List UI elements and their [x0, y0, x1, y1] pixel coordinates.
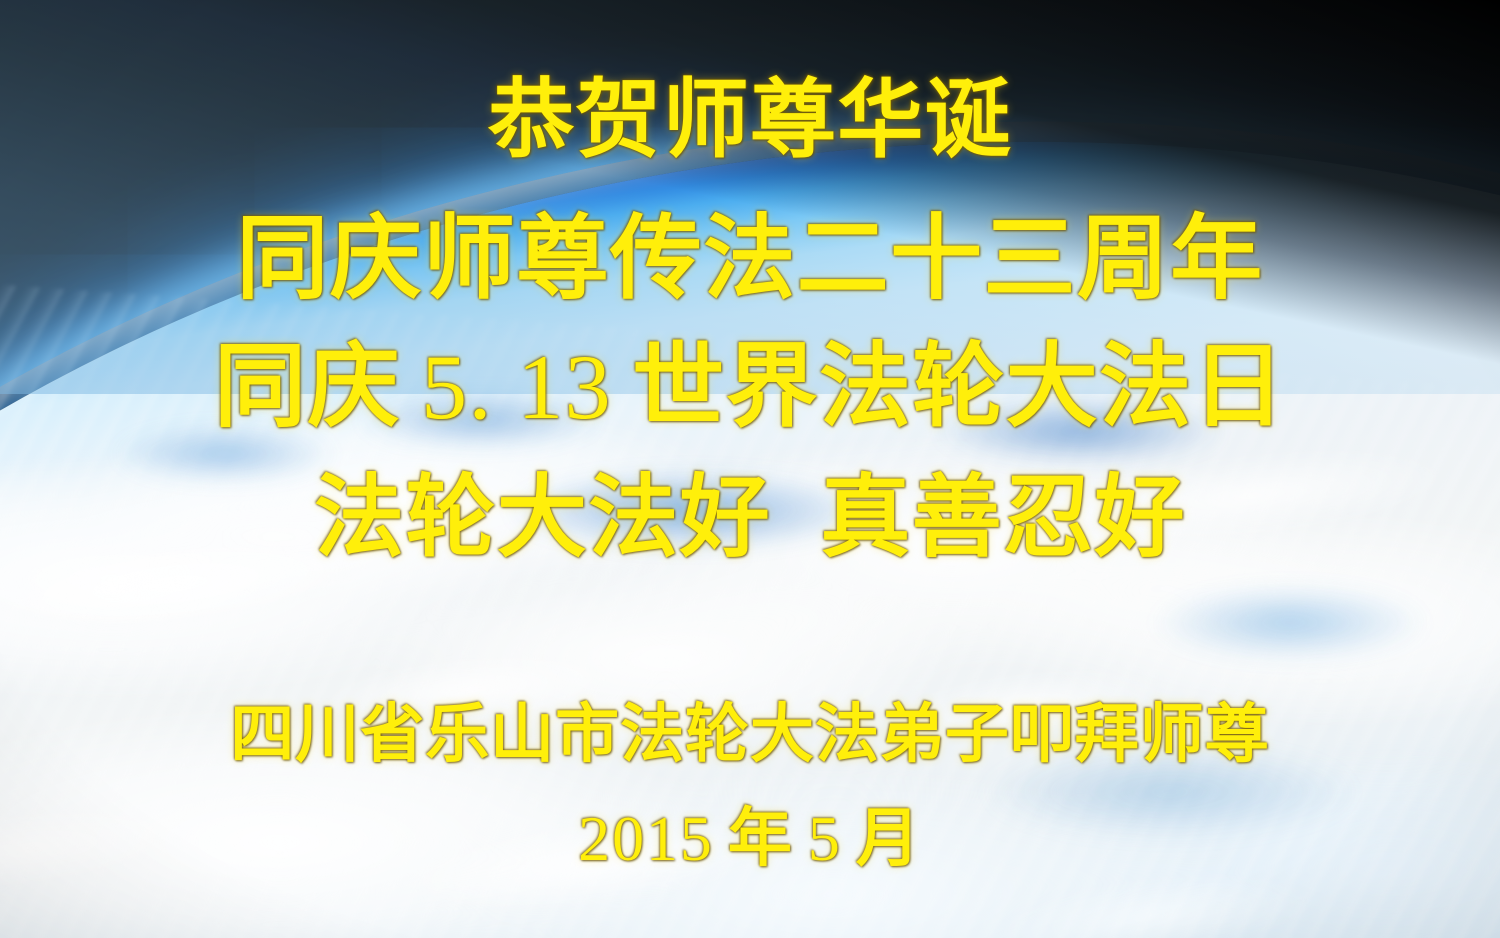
greeting-poster: 恭贺师尊华诞 同庆师尊传法二十三周年 同庆5. 13世界法轮大法日 法轮大法好真…: [0, 0, 1500, 938]
date-year-number: 2015: [578, 803, 714, 874]
headline-falun-dafa-day: 同庆5. 13世界法轮大法日: [0, 341, 1500, 433]
date-year-label: 年: [728, 802, 794, 876]
signature-practitioners: 四川省乐山市法轮大法弟子叩拜师尊: [0, 703, 1500, 767]
slogan-line: 法轮大法好真善忍好: [0, 473, 1500, 563]
date-month-label: 月: [856, 802, 922, 876]
date-line: 2015年5月: [0, 807, 1500, 871]
date-month-number: 5: [808, 803, 842, 874]
line3-date-number: 5. 13: [421, 336, 612, 438]
line3-prefix: 同庆: [214, 333, 401, 440]
headline-anniversary: 同庆师尊传法二十三周年: [0, 213, 1500, 305]
slogan-zhen-shan-ren-hao: 真善忍好: [820, 465, 1185, 570]
line3-suffix: 世界法轮大法日: [632, 333, 1286, 440]
headline-birthday-greeting: 恭贺师尊华诞: [0, 77, 1500, 163]
poster-text-block: 恭贺师尊华诞 同庆师尊传法二十三周年 同庆5. 13世界法轮大法日 法轮大法好真…: [0, 0, 1500, 938]
slogan-falun-dafa-hao: 法轮大法好: [314, 465, 771, 570]
